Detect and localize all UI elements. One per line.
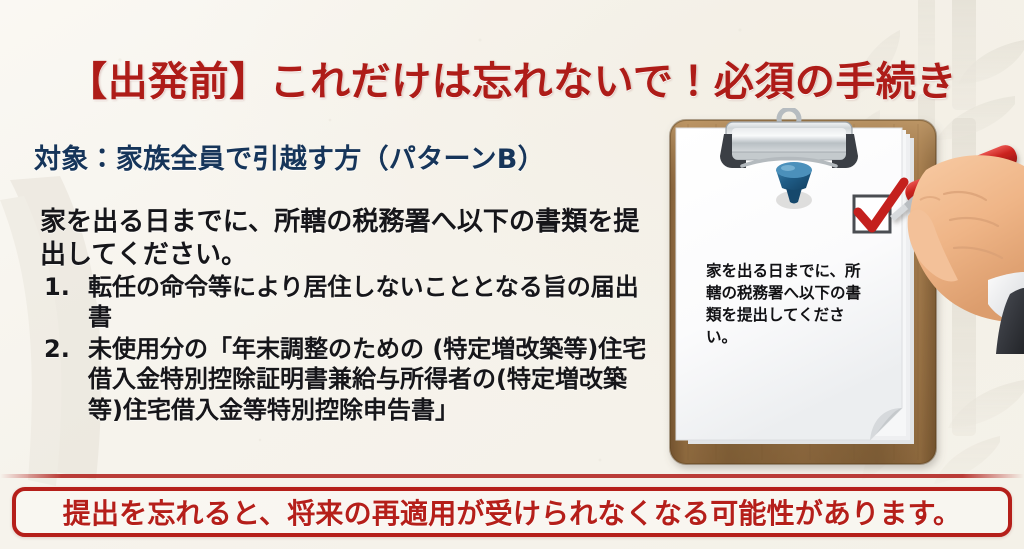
warning-text: 提出を忘れると、将来の再適用が受けられなくなる可能性があります。 [63, 492, 961, 532]
clipboard-clip [720, 109, 858, 168]
warning-banner: 提出を忘れると、将来の再適用が受けられなくなる可能性があります。 [12, 487, 1012, 537]
list-item: 1. 転任の命令等により居住しないこととなる旨の届出書 [40, 272, 660, 333]
clipboard-note-text: 家を出る日までに、所轄の税務署へ以下の書類を提出してください。 [706, 260, 870, 348]
red-divider-strip [0, 474, 1024, 478]
list-item: 2. 未使用分の「年末調整のための (特定増改築等)住宅借入金特別控除証明書兼給… [40, 334, 660, 425]
list-item-number: 1. [40, 272, 88, 302]
list-item-number: 2. [40, 334, 88, 364]
instruction-paragraph: 家を出る日までに、所轄の税務署へ以下の書類を提出してください。 [40, 206, 652, 273]
list-item-label: 未使用分の「年末調整のための (特定増改築等)住宅借入金特別控除証明書兼給与所得… [88, 334, 660, 425]
list-item-label: 転任の命令等により居住しないこととなる旨の届出書 [88, 272, 660, 333]
clipboard-illustration: 家を出る日までに、所轄の税務署へ以下の書類を提出してください。 [658, 108, 1024, 480]
pushpin-icon [776, 162, 812, 209]
page-title: 【出発前】これだけは忘れないで！必須の手続き [0, 49, 1024, 107]
required-documents-list: 1. 転任の命令等により居住しないこととなる旨の届出書 2. 未使用分の「年末調… [40, 272, 660, 426]
target-audience-subtitle: 対象：家族全員で引越す方（パターンB） [34, 137, 545, 176]
slide-canvas: 【出発前】これだけは忘れないで！必須の手続き 対象：家族全員で引越す方（パターン… [0, 0, 1024, 549]
